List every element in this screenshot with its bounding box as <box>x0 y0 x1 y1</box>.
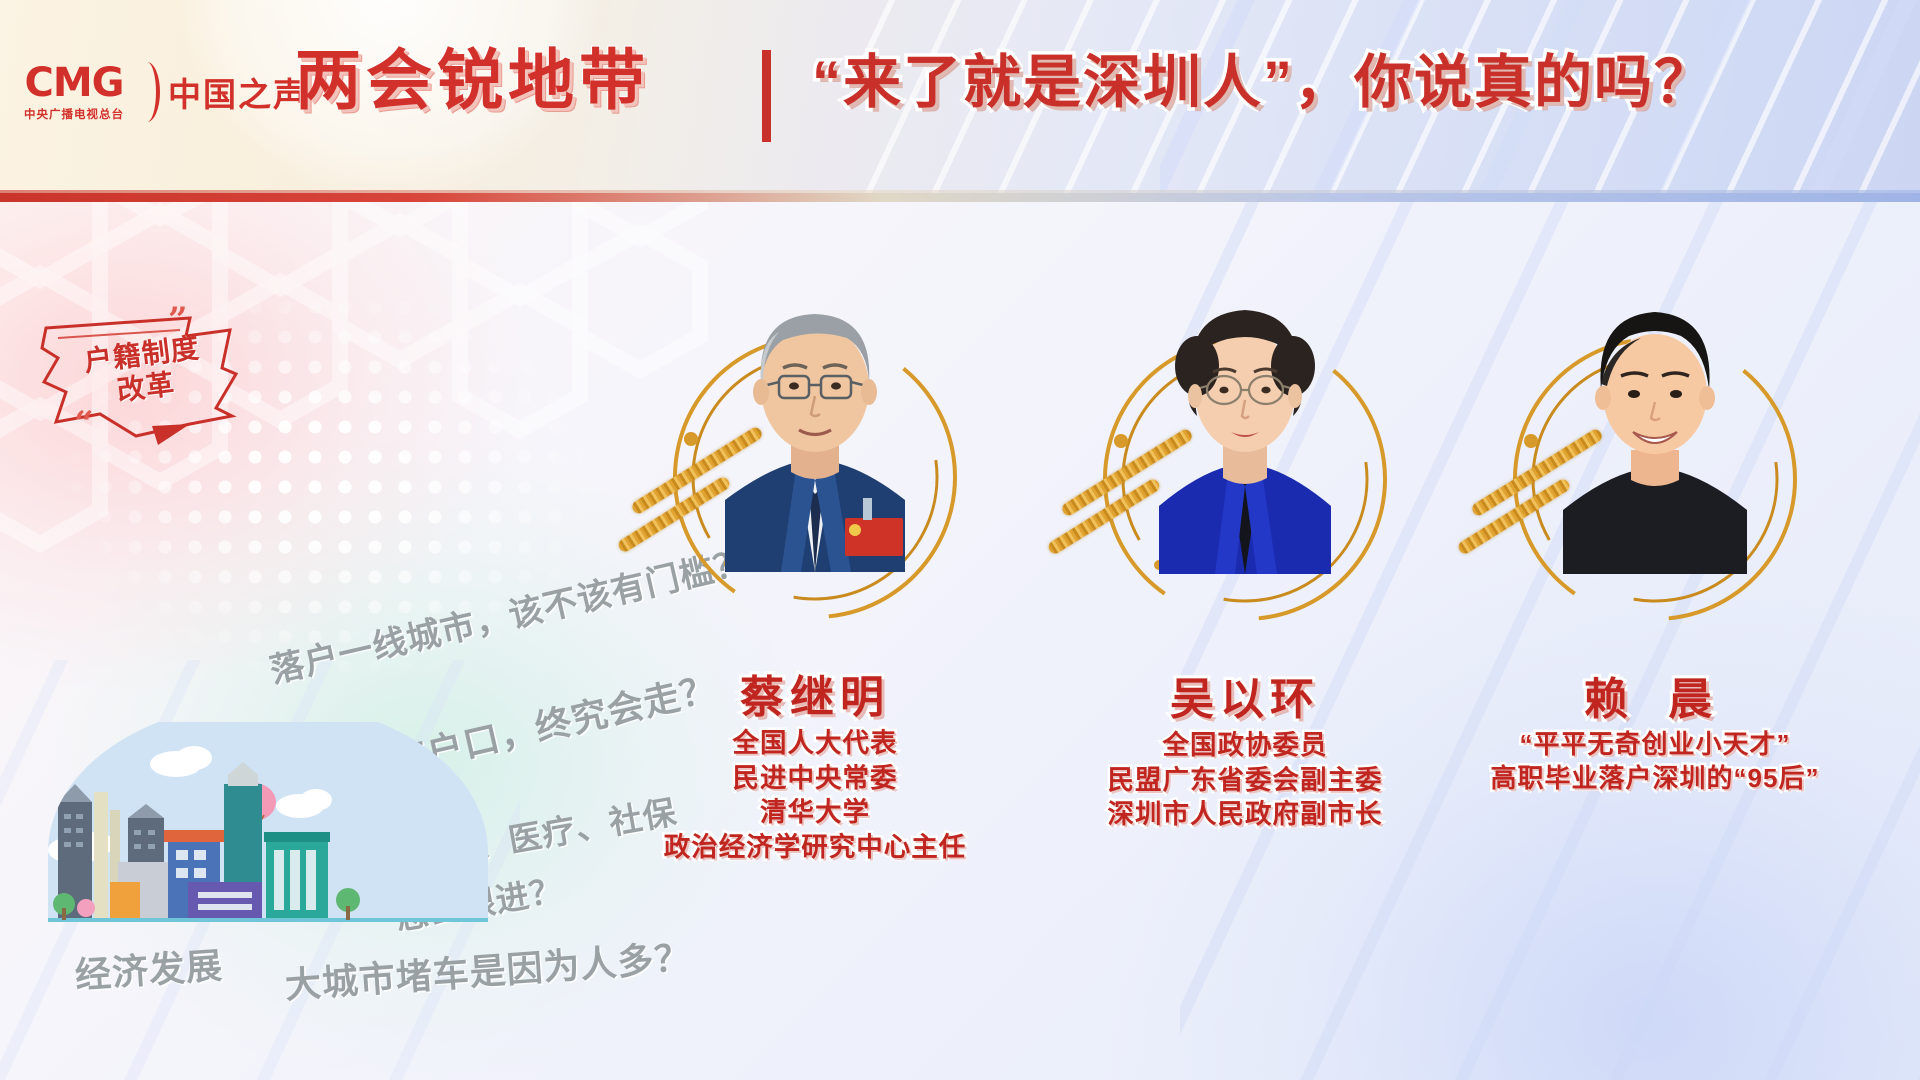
cmg-logo-mark: CMG 中央广播电视总台 <box>24 63 124 122</box>
guest-portrait-wrap-2 <box>1080 274 1410 674</box>
cmg-logo: CMG 中央广播电视总台 中国之声 <box>24 62 308 122</box>
episode-title: “来了就是深圳人”，你说真的吗？ <box>812 54 1714 112</box>
guest-card-2[interactable]: 吴以环 全国政协委员 民盟广东省委会副主委 深圳市人民政府副市长 <box>1030 274 1460 832</box>
guest-credential-line: “平平无奇创业小天才” <box>1440 728 1870 762</box>
cmg-arc-icon <box>134 62 160 122</box>
guest-portrait-wrap-3 <box>1490 274 1820 674</box>
header-banner: CMG 中央广播电视总台 中国之声 两会锐地带 “来了就是深圳人”，你说真的吗？ <box>0 0 1920 202</box>
guest-card-3[interactable]: 赖 晨 “平平无奇创业小天才” 高职毕业落户深圳的“95后” <box>1440 274 1870 796</box>
cmg-logo-subtitle: 中央广播电视总台 <box>24 106 124 122</box>
guest-photo-2 <box>1135 274 1355 574</box>
title-divider <box>762 50 771 142</box>
guest-name-2: 吴以环 <box>1030 676 1460 724</box>
cmg-logo-wordmark: CMG <box>25 63 124 103</box>
content-stage: ” “ 户籍制度 改革 落户一线城市，该不该有门槛？ 没有户口，终究会走？ 教育… <box>0 202 1920 1080</box>
guest-name-3: 赖 晨 <box>1440 676 1870 724</box>
guest-credentials-2: 全国政协委员 民盟广东省委会副主委 深圳市人民政府副市长 <box>1030 728 1460 831</box>
guest-credential-line: 深圳市人民政府副市长 <box>1030 797 1460 831</box>
guest-credentials-3: “平平无奇创业小天才” 高职毕业落户深圳的“95后” <box>1440 728 1870 796</box>
question-line-5: 经济发展 <box>73 937 224 999</box>
guest-credential-line: 民进中央常委 <box>600 761 1030 795</box>
topic-tag: ” “ 户籍制度 改革 <box>40 312 240 432</box>
guest-credential-line: 全国人大代表 <box>600 726 1030 760</box>
guest-credential-line: 民盟广东省委会副主委 <box>1030 763 1460 797</box>
channel-name: 中国之声 <box>168 68 308 116</box>
guest-photo-1 <box>705 272 925 572</box>
guest-credential-line: 清华大学 <box>600 795 1030 829</box>
header-underline <box>0 193 1920 202</box>
guest-card-1[interactable]: 蔡继明 全国人大代表 民进中央常委 清华大学 政治经济学研究中心主任 <box>600 272 1030 864</box>
city-illustration <box>48 722 488 922</box>
guest-credential-line: 全国政协委员 <box>1030 728 1460 762</box>
guest-credential-line: 政治经济学研究中心主任 <box>600 830 1030 864</box>
topic-tag-line2: 改革 <box>115 368 176 406</box>
guest-name-1: 蔡继明 <box>600 674 1030 722</box>
guest-portrait-wrap-1 <box>650 272 980 672</box>
program-title: 两会锐地带 <box>295 47 650 113</box>
guest-credentials-1: 全国人大代表 民进中央常委 清华大学 政治经济学研究中心主任 <box>600 726 1030 864</box>
guest-credential-line: 高职毕业落户深圳的“95后” <box>1440 762 1870 796</box>
guest-photo-3 <box>1545 274 1765 574</box>
